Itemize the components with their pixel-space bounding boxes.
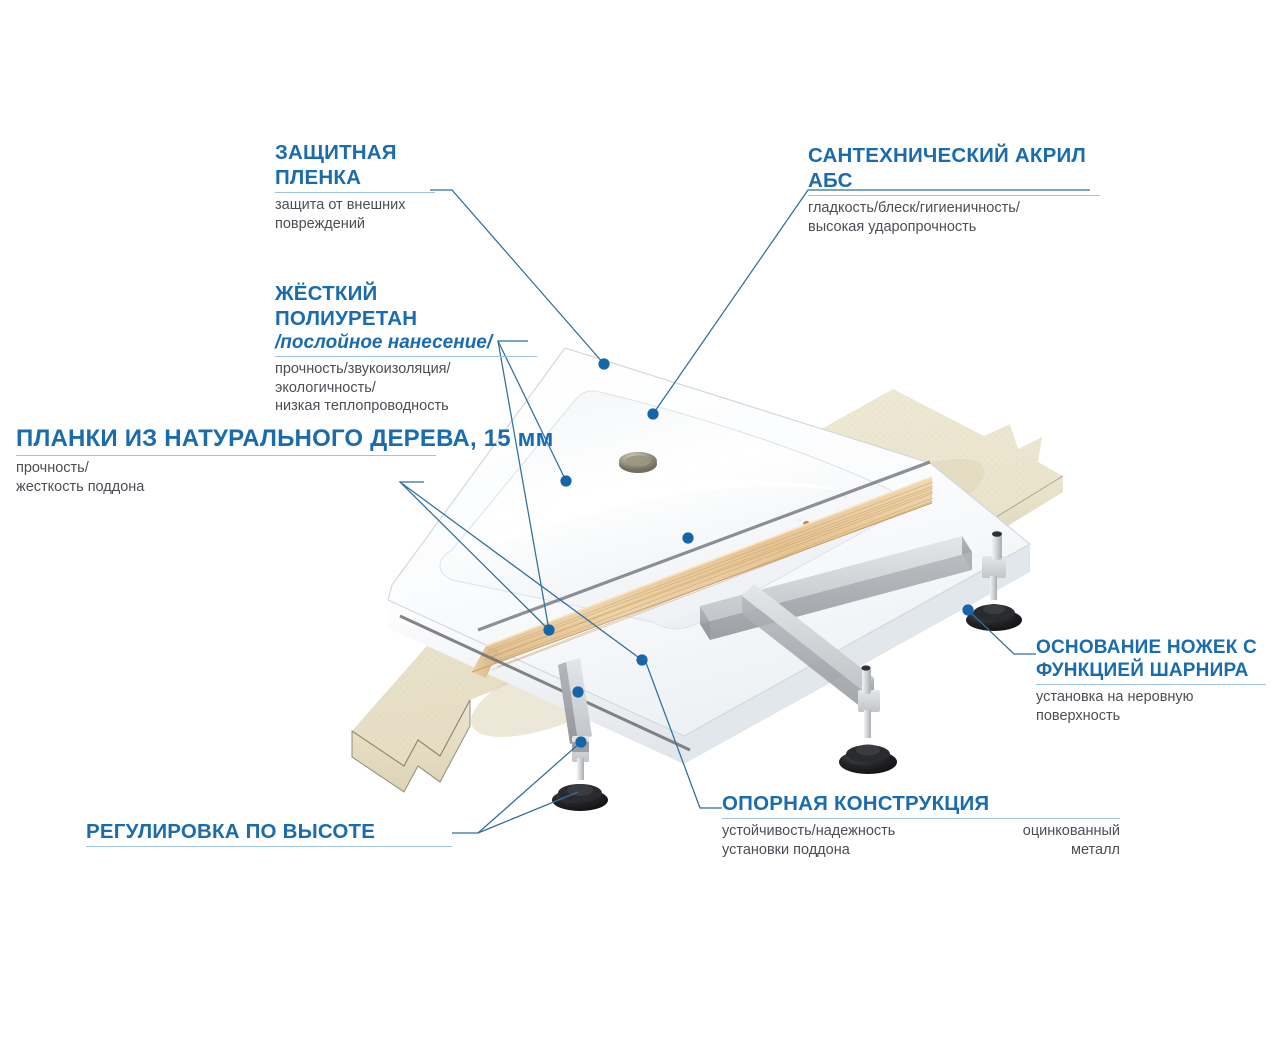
callout-rule [1036,684,1266,685]
callout-hinged-leg-base-body: установка на неровную поверхность [1036,688,1266,725]
callout-sanitary-acrylic-heading: САНТЕХНИЧЕСКИЙ АКРИЛ АБС [808,143,1100,193]
callout-rule [275,356,537,357]
drain-hole-icon [619,452,657,473]
callout-height-adjustment-heading: РЕГУЛИРОВКА ПО ВЫСОТЕ [86,819,452,844]
callout-sanitary-acrylic: САНТЕХНИЧЕСКИЙ АКРИЛ АБС гладкость/блеск… [808,143,1100,236]
callout-support-frame-heading: ОПОРНАЯ КОНСТРУКЦИЯ [722,791,1120,816]
callout-rule [722,818,1120,819]
callout-natural-wood-slats-body: прочность/ жесткость поддона [16,459,436,496]
diagram-canvas: ЗАЩИТНАЯ ПЛЕНКА защита от внешних повреж… [0,0,1280,1048]
callout-sanitary-acrylic-body: гладкость/блеск/гигиеничность/ высокая у… [808,199,1100,236]
callout-support-frame: ОПОРНАЯ КОНСТРУКЦИЯ устойчивость/надежно… [722,791,1120,859]
callout-rigid-polyurethane-heading: ЖЁСТКИЙ ПОЛИУРЕТАН [275,281,537,331]
callout-protective-film-body: защита от внешних повреждений [275,196,435,233]
callout-support-frame-body-secondary: оцинкованный металл [1023,822,1120,859]
callout-support-frame-body: устойчивость/надежность установки поддон… [722,822,895,859]
callout-rigid-polyurethane-body: прочность/звукоизоляция/ экологичность/ … [275,360,537,416]
callout-protective-film: ЗАЩИТНАЯ ПЛЕНКА защита от внешних повреж… [275,140,435,233]
callout-protective-film-heading: ЗАЩИТНАЯ ПЛЕНКА [275,140,435,190]
callout-natural-wood-slats-heading: ПЛАНКИ ИЗ НАТУРАЛЬНОГО ДЕРЕВА, 15 мм [16,424,436,453]
callout-rigid-polyurethane-subheading: /послойное нанесение/ [275,331,537,354]
callout-hinged-leg-base-heading: ОСНОВАНИЕ НОЖЕК С ФУНКЦИЕЙ ШАРНИРА [1036,636,1266,682]
callout-rule [808,195,1100,196]
callout-hinged-leg-base: ОСНОВАНИЕ НОЖЕК С ФУНКЦИЕЙ ШАРНИРА устан… [1036,636,1266,725]
callout-height-adjustment: РЕГУЛИРОВКА ПО ВЫСОТЕ [86,819,452,850]
callout-natural-wood-slats: ПЛАНКИ ИЗ НАТУРАЛЬНОГО ДЕРЕВА, 15 мм про… [16,424,436,496]
callout-rigid-polyurethane: ЖЁСТКИЙ ПОЛИУРЕТАН /послойное нанесение/… [275,281,537,416]
callout-rule [86,846,452,847]
callout-rule [16,455,436,456]
callout-rule [275,192,435,193]
